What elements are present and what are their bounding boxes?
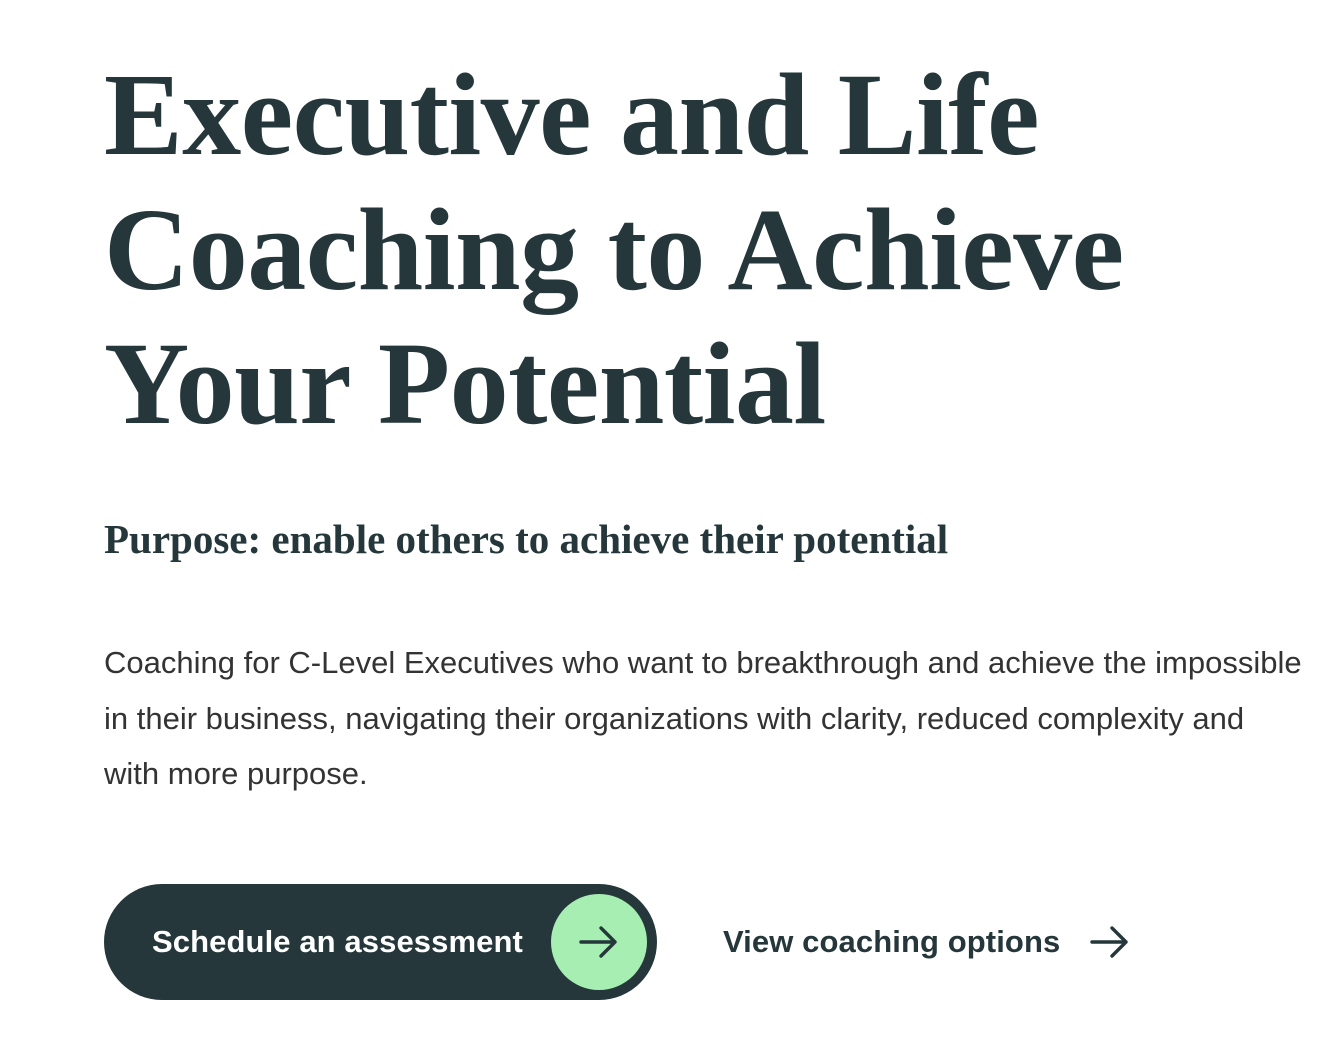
arrow-right-icon xyxy=(1084,916,1136,968)
cta-row: Schedule an assessment View coaching opt… xyxy=(104,802,1304,1000)
schedule-assessment-label: Schedule an assessment xyxy=(152,924,523,960)
hero-content: Executive and Life Coaching to Achieve Y… xyxy=(104,0,1304,1000)
view-coaching-options-label: View coaching options xyxy=(723,924,1060,960)
page-title: Executive and Life Coaching to Achieve Y… xyxy=(104,0,1134,452)
hero-subtitle: Purpose: enable others to achieve their … xyxy=(104,452,1304,565)
view-coaching-options-link[interactable]: View coaching options xyxy=(723,916,1136,968)
hero-description: Coaching for C-Level Executives who want… xyxy=(104,565,1304,802)
schedule-assessment-button[interactable]: Schedule an assessment xyxy=(104,884,657,1000)
hero-section: Executive and Life Coaching to Achieve Y… xyxy=(0,0,1336,1052)
arrow-right-icon xyxy=(551,894,647,990)
